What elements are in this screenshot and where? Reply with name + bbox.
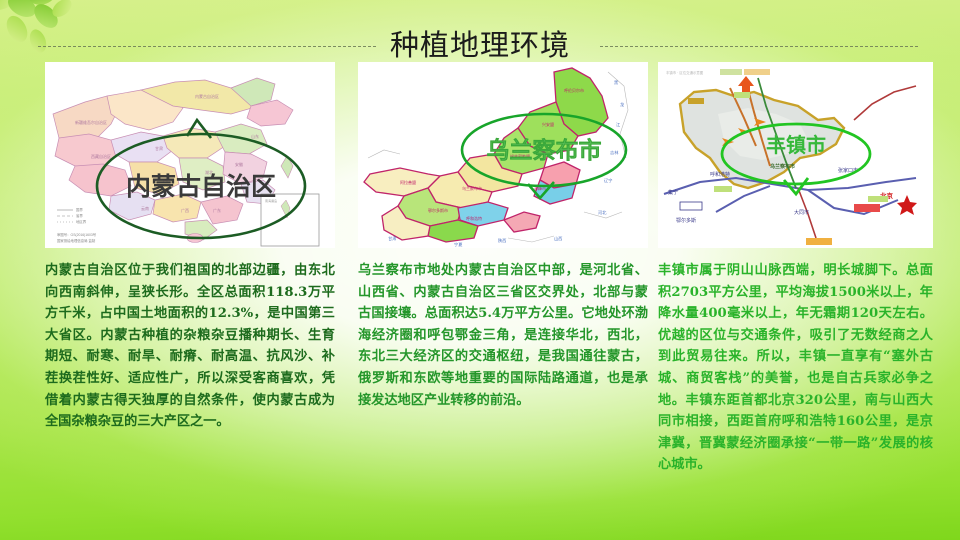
svg-text:河北: 河北	[598, 209, 607, 216]
svg-text:国家测绘地理信息局 监制: 国家测绘地理信息局 监制	[57, 238, 96, 243]
svg-text:审图号：GS(2016)1603号: 审图号：GS(2016)1603号	[57, 232, 97, 237]
map-fengzhen-transport[interactable]: 丰镇市 · 区位交通示意图	[658, 62, 933, 248]
svg-text:江: 江	[616, 121, 620, 128]
svg-text:丰镇市 · 区位交通示意图: 丰镇市 · 区位交通示意图	[666, 70, 704, 75]
svg-text:阿拉善盟: 阿拉善盟	[400, 179, 416, 185]
svg-text:国界: 国界	[76, 207, 83, 212]
map-callout-label-china: 内蒙古自治区	[126, 172, 276, 201]
svg-text:鄂尔多斯: 鄂尔多斯	[676, 217, 696, 224]
slide-canvas: 种植地理环境	[0, 0, 960, 540]
svg-text:宁夏: 宁夏	[454, 241, 463, 247]
svg-text:乌兰察布市: 乌兰察布市	[770, 163, 795, 170]
column-ulanqab: 黑 龙 江 吉林 辽宁 河北 山西 陕西 宁夏 甘肃 呼伦贝尔市 兴安盟 锡林郭…	[358, 62, 648, 411]
svg-text:呼和浩特: 呼和浩特	[466, 215, 482, 221]
svg-text:鄂尔多斯市: 鄂尔多斯市	[428, 207, 448, 213]
paragraph-inner-mongolia: 内蒙古自治区位于我们祖国的北部边疆，由东北向西南斜伸，呈狭长形。全区总面积118…	[45, 260, 335, 433]
map-callout-label-fengzhen: 丰镇市	[766, 133, 826, 157]
paragraph-ulanqab: 乌兰察布市地处内蒙古自治区中部，是河北省、山西省、内蒙古自治区三省区交界处，北部…	[358, 260, 648, 411]
svg-text:山东: 山东	[251, 133, 259, 139]
page-title: 种植地理环境	[0, 26, 960, 64]
svg-text:呼和浩特: 呼和浩特	[710, 171, 730, 178]
svg-text:西藏自治区: 西藏自治区	[91, 153, 111, 159]
map-callout-label-ulanqab: 乌兰察布市	[487, 137, 602, 164]
svg-text:云南: 云南	[141, 205, 149, 211]
svg-text:甘肃: 甘肃	[388, 235, 396, 242]
svg-text:辽宁: 辽宁	[604, 177, 612, 184]
svg-text:兴安盟: 兴安盟	[542, 121, 554, 127]
svg-text:集宁: 集宁	[668, 189, 678, 196]
svg-text:省界: 省界	[76, 213, 83, 218]
svg-text:广西: 广西	[181, 207, 189, 213]
map-inner-mongolia[interactable]: 黑 龙 江 吉林 辽宁 河北 山西 陕西 宁夏 甘肃 呼伦贝尔市 兴安盟 锡林郭…	[358, 62, 648, 248]
svg-text:地区界: 地区界	[76, 219, 87, 224]
svg-text:乌兰察布市: 乌兰察布市	[462, 185, 482, 191]
svg-text:山西: 山西	[554, 235, 562, 242]
svg-text:安徽: 安徽	[235, 161, 243, 167]
svg-text:甘肃: 甘肃	[155, 145, 163, 151]
svg-text:陕西: 陕西	[498, 237, 506, 244]
svg-text:呼伦贝尔市: 呼伦贝尔市	[564, 87, 584, 93]
svg-text:广东: 广东	[213, 207, 221, 213]
svg-text:内蒙古自治区: 内蒙古自治区	[195, 93, 219, 99]
map-china[interactable]: 南海诸岛 国界 省界 地区界 审图号：GS(2016)1603号 国家测绘地理信…	[45, 62, 335, 248]
column-fengzhen: 丰镇市 · 区位交通示意图	[658, 62, 933, 476]
svg-text:吉林: 吉林	[610, 149, 619, 156]
column-inner-mongolia: 南海诸岛 国界 省界 地区界 审图号：GS(2016)1603号 国家测绘地理信…	[45, 62, 335, 433]
svg-text:新疆维吾尔自治区: 新疆维吾尔自治区	[75, 119, 107, 125]
paragraph-fengzhen: 丰镇市属于阴山山脉西端，明长城脚下。总面积2703平方公里，平均海拔1500米以…	[658, 260, 933, 476]
svg-text:大同市: 大同市	[794, 209, 809, 216]
page-title-text: 种植地理环境	[376, 28, 584, 62]
